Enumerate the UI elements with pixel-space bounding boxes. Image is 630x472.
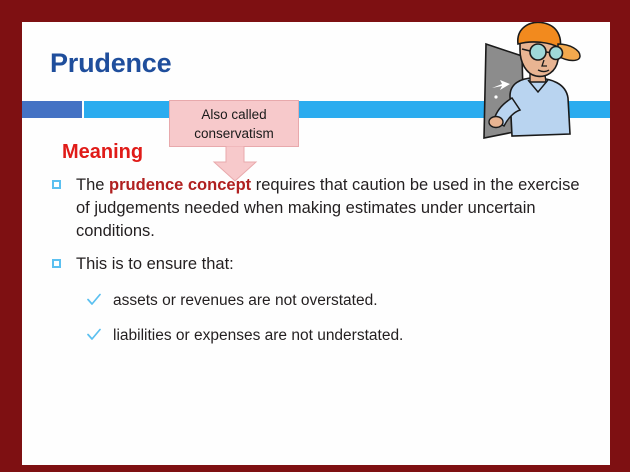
slide-canvas: Prudence [22,22,610,465]
bullet-text-pre: The [76,176,109,194]
callout-line-1: Also called [201,105,266,124]
slide-frame: Prudence [0,0,630,472]
page-title: Prudence [50,48,171,79]
list-item: This is to ensure that: [52,253,597,276]
list-item: The prudence concept requires that cauti… [52,174,597,243]
body-bullet-list: The prudence concept requires that cauti… [52,174,597,360]
shirt-shape [510,78,570,136]
list-item: assets or revenues are not overstated. [87,290,597,311]
callout-box: Also called conservatism [169,100,299,147]
check-bullet-icon [87,293,101,307]
sub-bullet-list: assets or revenues are not overstated. l… [87,290,597,346]
square-bullet-icon [52,180,61,189]
section-heading-meaning: Meaning [62,141,143,164]
bullet-text-highlight: prudence concept [109,176,251,194]
sub-bullet-text: liabilities or expenses are not understa… [113,325,597,346]
bullet-text: The prudence concept requires that cauti… [76,174,597,243]
sub-bullet-text: assets or revenues are not overstated. [113,290,597,311]
person-with-board-clipart [454,22,602,142]
square-bullet-icon [52,259,61,268]
list-item: liabilities or expenses are not understa… [87,325,597,346]
bullet-text: This is to ensure that: [76,253,597,276]
divider-bar-accent [22,101,82,118]
callout-line-2: conservatism [194,124,274,143]
bullet-text-pre: This is to ensure that: [76,255,234,273]
hand-shape [489,117,503,128]
check-bullet-icon [87,328,101,342]
